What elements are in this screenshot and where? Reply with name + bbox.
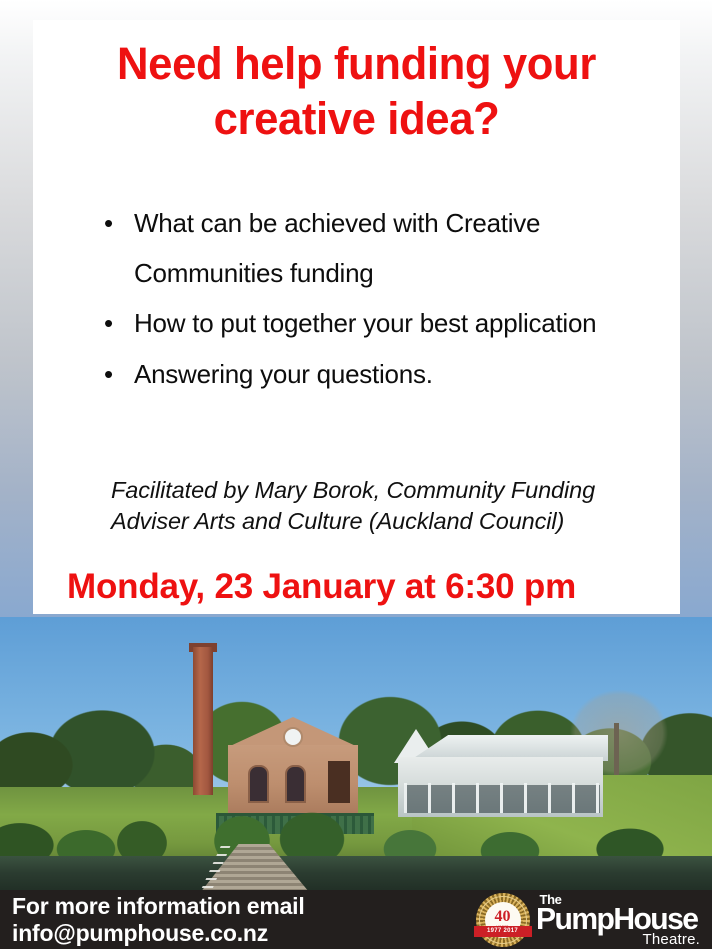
pumphouse-logo[interactable]: The PumpHouse Theatre.: [536, 893, 712, 947]
list-item: • How to put together your best applicat…: [96, 298, 662, 348]
facilitator-line-1: Facilitated by Mary Borok, Community Fun…: [111, 475, 650, 506]
footer-bar: For more information email info@pumphous…: [0, 890, 712, 949]
event-dateline: Monday, 23 January at 6:30 pm: [67, 568, 666, 607]
pumphouse-door: [328, 761, 350, 803]
contact-email[interactable]: info@pumphouse.co.nz: [12, 920, 476, 947]
list-item-label: How to put together your best applicatio…: [134, 308, 596, 338]
badge-year-span: 1977 2017: [487, 928, 518, 934]
bullet-icon: •: [104, 298, 113, 348]
topics-list: • What can be achieved with Creative Com…: [96, 198, 662, 399]
headline-line-1: Need help funding your: [68, 37, 645, 92]
contact-line-1: For more information email: [12, 893, 476, 920]
list-item: • What can be achieved with Creative Com…: [96, 198, 662, 298]
brick-chimney: [193, 647, 213, 795]
list-item-label: Answering your questions.: [134, 359, 433, 389]
anniversary-badge-icon: 40 years 1977 2017: [476, 893, 530, 947]
list-item-label: What can be achieved with Creative Commu…: [134, 208, 540, 288]
headline-line-2: creative idea?: [68, 92, 645, 147]
content-card: Need help funding your creative idea? • …: [33, 20, 680, 614]
badge-ribbon: 1977 2017: [474, 926, 532, 937]
list-item: • Answering your questions.: [96, 349, 662, 399]
facilitator-note: Facilitated by Mary Borok, Community Fun…: [111, 475, 650, 538]
contact-info: For more information email info@pumphous…: [0, 893, 476, 946]
round-window: [283, 727, 303, 747]
venue-photo: [0, 617, 712, 898]
bullet-icon: •: [104, 349, 113, 399]
badge-number: 40: [495, 909, 511, 925]
facilitator-line-2: Adviser Arts and Culture (Auckland Counc…: [111, 506, 650, 537]
arched-window: [248, 765, 269, 803]
bullet-icon: •: [104, 198, 113, 248]
poster: Need help funding your creative idea? • …: [0, 0, 712, 949]
logo-name: PumpHouse: [536, 903, 697, 934]
arched-window: [285, 765, 306, 803]
page-title: Need help funding your creative idea?: [43, 20, 671, 147]
